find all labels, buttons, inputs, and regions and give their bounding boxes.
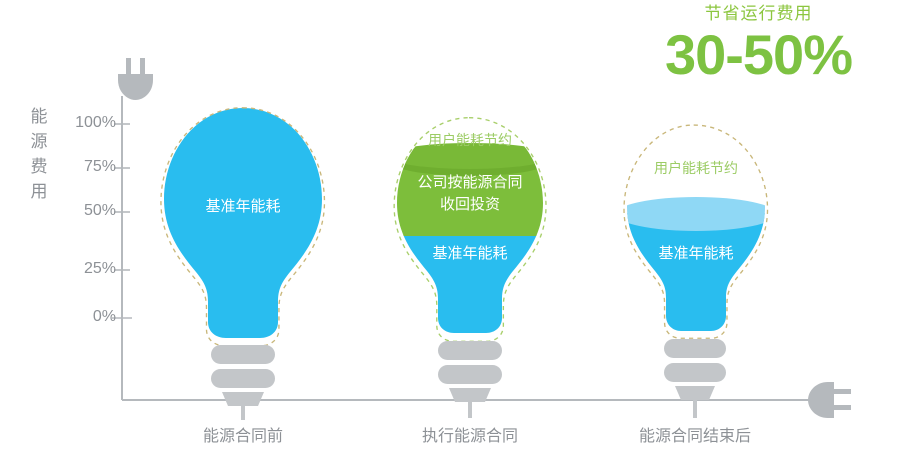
x-tick-label-after: 能源合同结束后: [595, 422, 795, 446]
y-tick-label-0: 0%: [54, 308, 116, 326]
bulb-1-fill: [150, 100, 340, 350]
x-tick-label-before: 能源合同前: [143, 422, 343, 446]
headline-subtitle: 节省运行费用: [665, 4, 852, 24]
bulb-3-base: [664, 339, 726, 418]
bulb-3-label-baseline: 基准年能耗: [596, 243, 796, 264]
bulb-2-group: [380, 118, 570, 418]
plug-icon-right: [808, 382, 851, 418]
y-tick-label-25: 25%: [54, 260, 116, 278]
bulb-1-label-baseline: 基准年能耗: [143, 196, 343, 217]
bulb-2-label-recovery-line2: 收回投资: [370, 194, 570, 215]
bulb-3-fill: [610, 197, 800, 343]
infographic-canvas: 节省运行费用 30-50% 能源费用 100% 75% 50% 25% 0% 能…: [0, 0, 900, 473]
y-tick-label-100: 100%: [54, 114, 116, 132]
headline-value: 30-50%: [665, 26, 852, 84]
y-axis-title: 能源费用: [26, 104, 52, 204]
x-tick-label-during: 执行能源合同: [370, 422, 570, 446]
bulb-2-base: [438, 341, 502, 418]
y-tick-label-75: 75%: [54, 158, 116, 176]
bulb-2-label-baseline: 基准年能耗: [370, 243, 570, 264]
bulb-1-group: [150, 100, 340, 420]
bulb-2-label-recovery-line1: 公司按能源合同: [370, 172, 570, 193]
bulb-2-label-saving: 用户能耗节约: [370, 130, 570, 151]
bulb-1-base: [211, 345, 275, 420]
plug-icon-top: [118, 58, 153, 100]
bulb-3-label-saving: 用户能耗节约: [596, 158, 796, 179]
headline-block: 节省运行费用 30-50%: [665, 4, 852, 84]
y-tick-label-50: 50%: [54, 202, 116, 220]
